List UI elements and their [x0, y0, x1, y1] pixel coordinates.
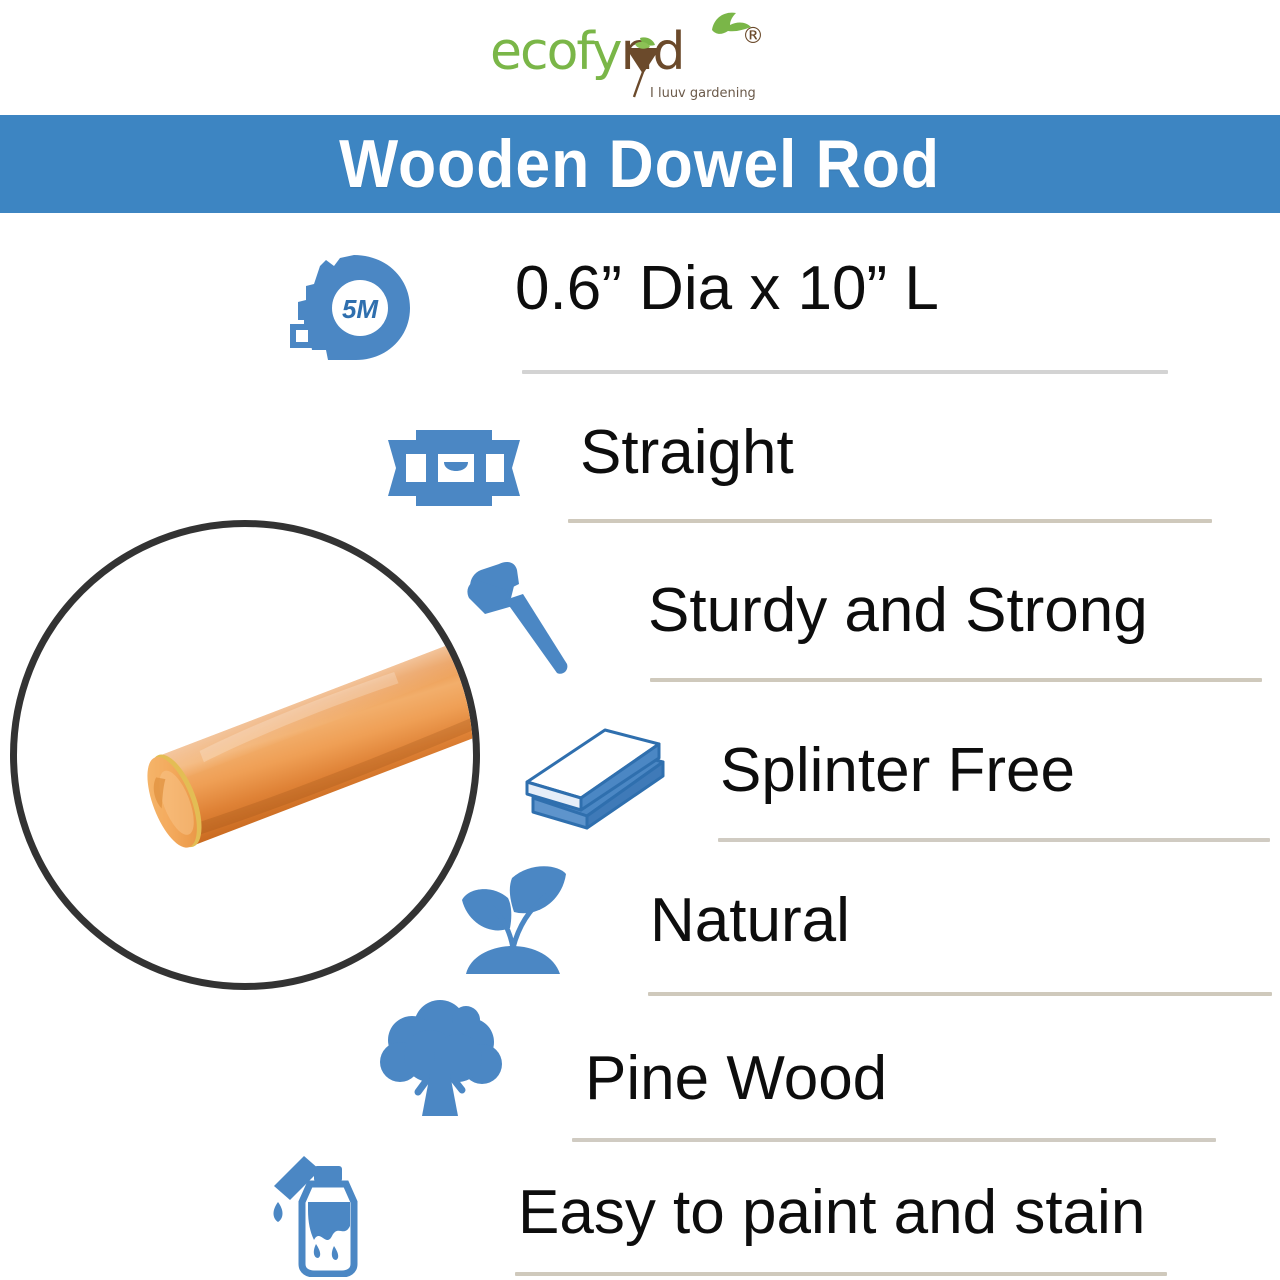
logo-tagline: I luuv gardening	[650, 86, 756, 101]
feature-label-sturdy: Sturdy and Strong	[648, 580, 1148, 642]
product-image-circle	[10, 520, 480, 990]
hammer-icon	[455, 560, 585, 678]
tape-measure-label: 5M	[342, 294, 379, 324]
brand-logo-bar: ecofynd ® I luuv gardening	[0, 0, 1280, 115]
sprout-icon	[450, 862, 580, 982]
registered-trademark-icon: ®	[742, 24, 764, 49]
feature-divider	[650, 678, 1262, 682]
feature-divider	[572, 1138, 1216, 1142]
feature-label-splinter-free: Splinter Free	[720, 740, 1075, 802]
feature-divider	[718, 838, 1270, 842]
feature-label-dimensions: 0.6” Dia x 10” L	[515, 258, 939, 320]
tree-icon	[378, 1000, 508, 1122]
feature-divider	[515, 1272, 1167, 1276]
paint-bottle-brush-icon	[268, 1152, 398, 1277]
tape-measure-icon: 5M	[282, 250, 430, 368]
feature-label-natural: Natural	[650, 890, 850, 952]
wooden-dowel-rod-illustration	[17, 527, 480, 990]
page-title: Wooden Dowel Rod	[340, 125, 941, 203]
feature-divider	[648, 992, 1272, 996]
feature-divider	[568, 519, 1212, 523]
product-title-banner: Wooden Dowel Rod	[0, 115, 1280, 213]
feature-label-pine-wood: Pine Wood	[585, 1048, 887, 1110]
logo-lockup[interactable]: ecofynd ® I luuv gardening	[490, 8, 790, 108]
feature-divider	[522, 370, 1168, 374]
logo-word-ecof: ecofy	[490, 22, 621, 82]
wood-planks-icon	[513, 720, 683, 840]
feature-label-straight: Straight	[580, 422, 794, 484]
feature-label-easy-paint-stain: Easy to paint and stain	[518, 1182, 1145, 1244]
spirit-level-icon	[380, 418, 528, 518]
